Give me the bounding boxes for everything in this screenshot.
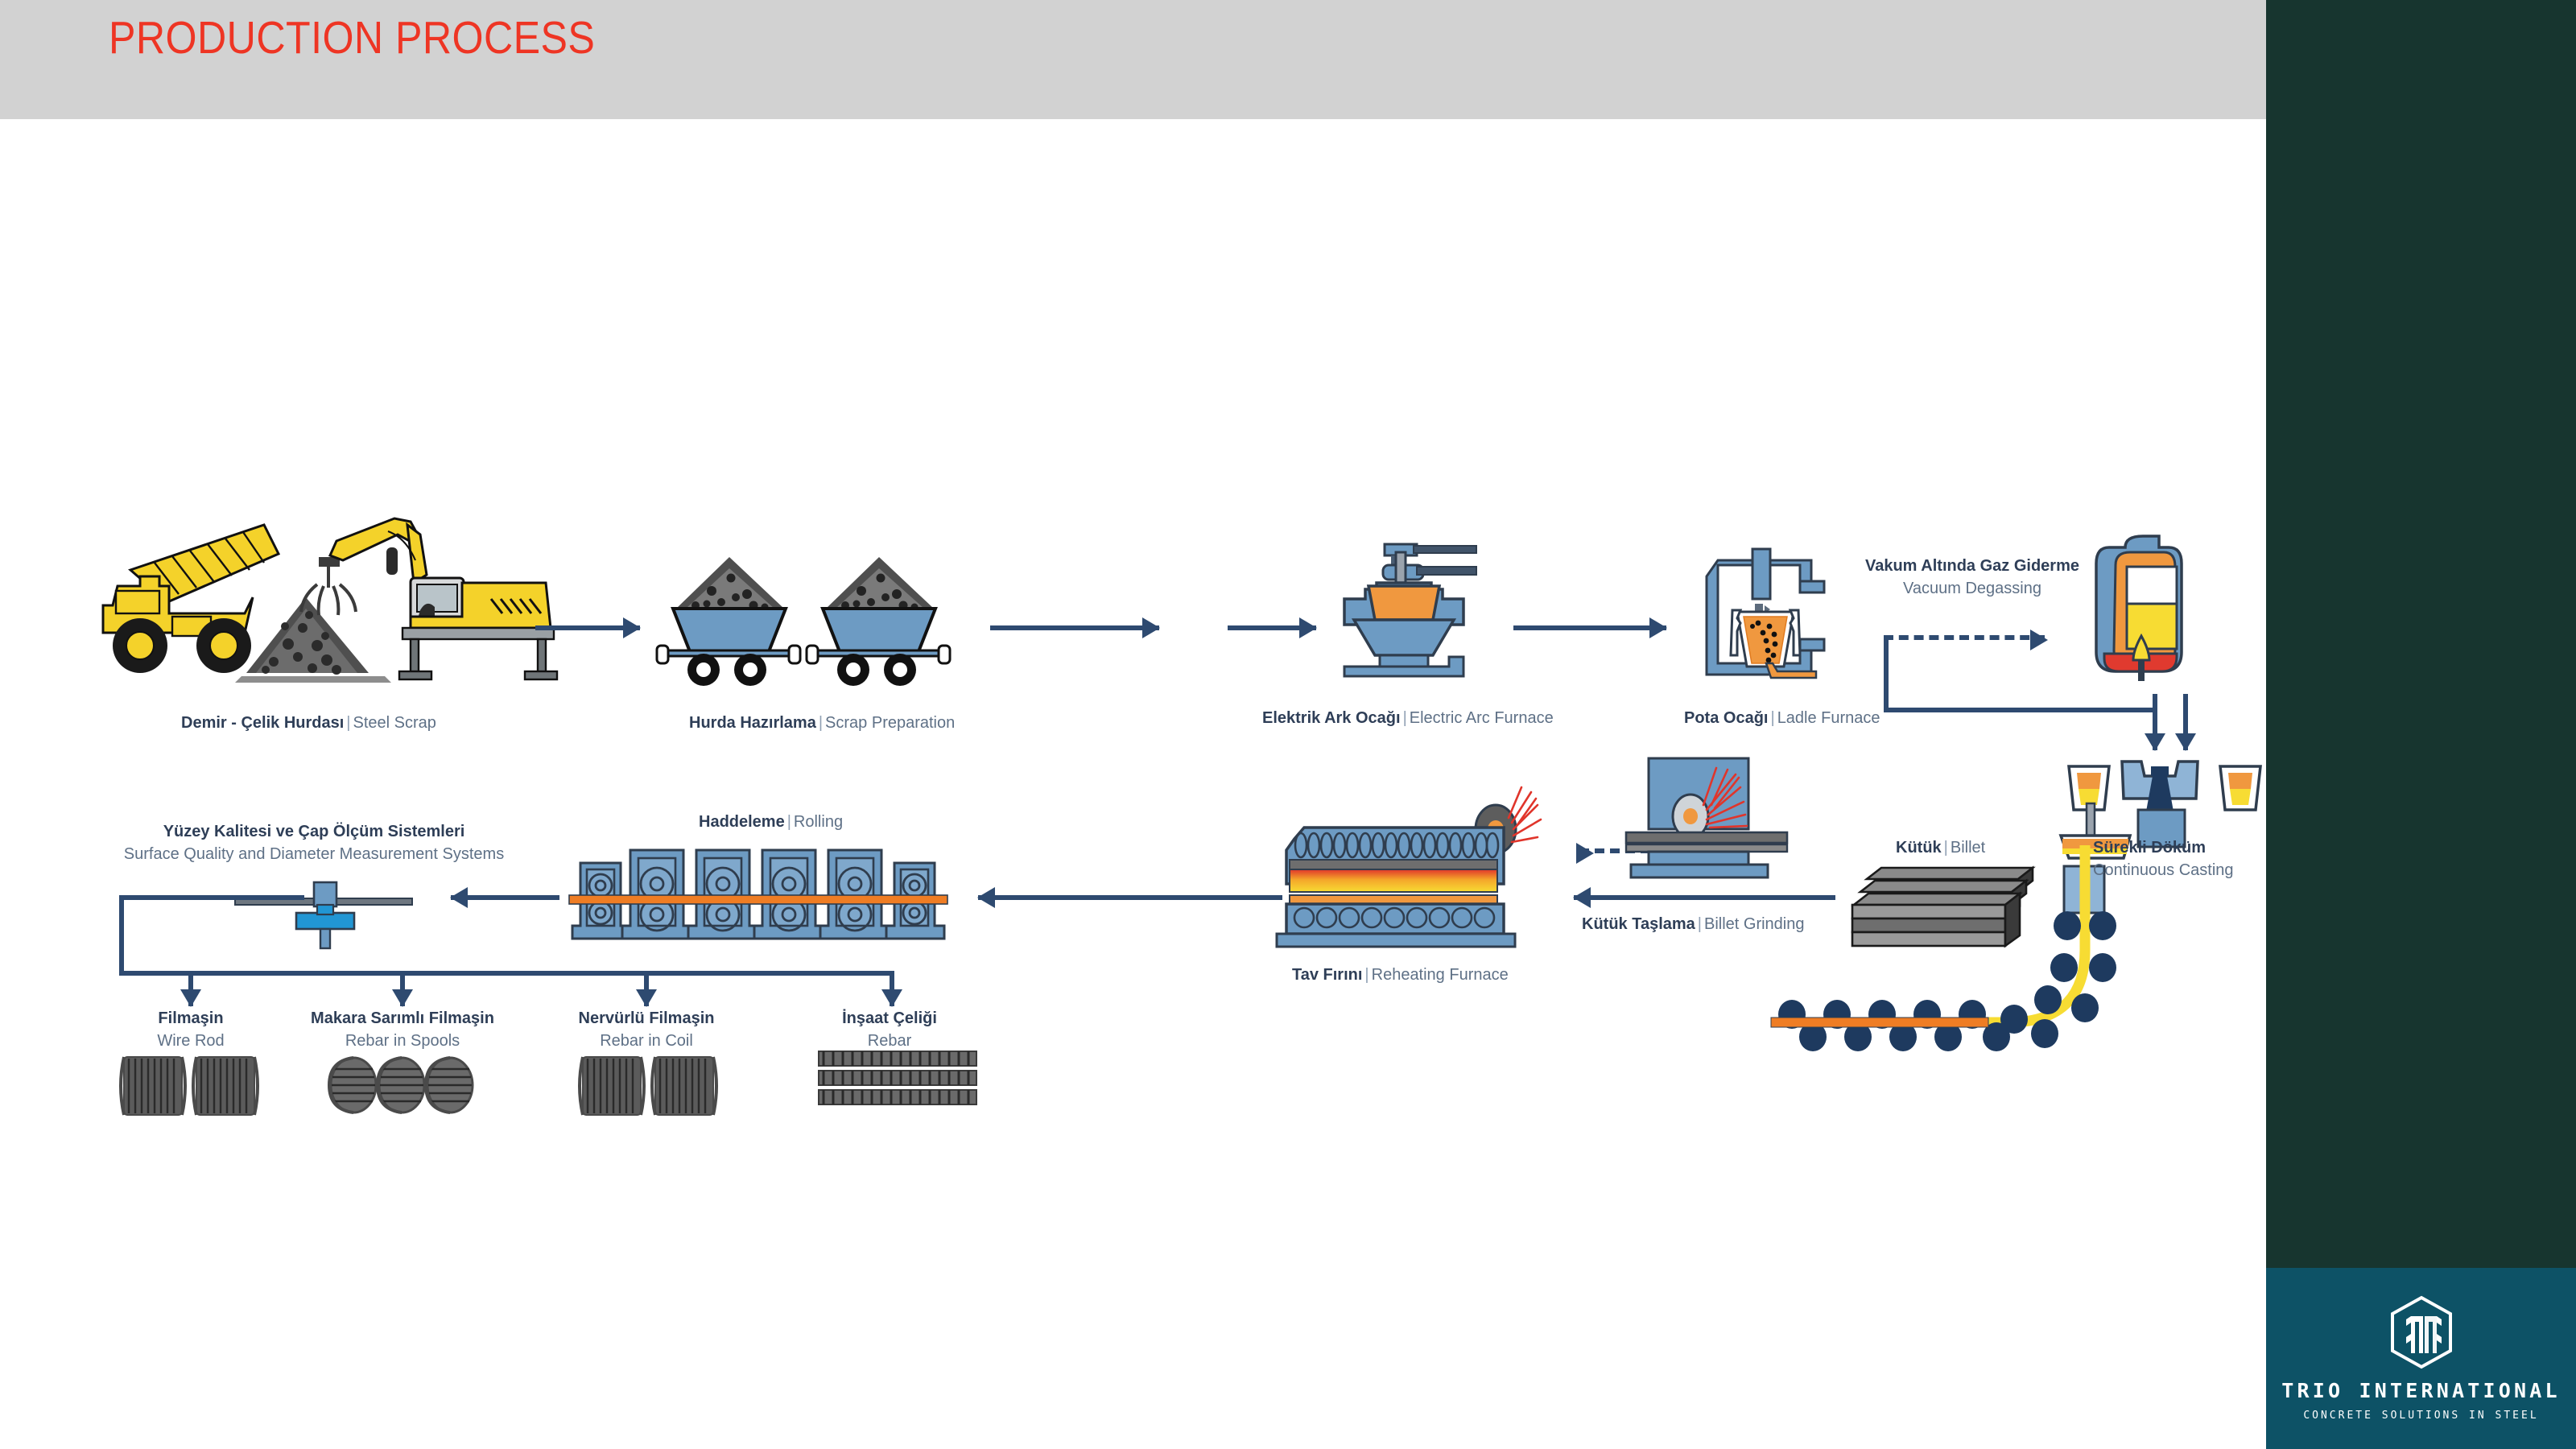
flow-arrow-down-2 bbox=[2183, 694, 2188, 750]
continuous-casting-icon bbox=[2061, 749, 2270, 1046]
caption-rolling: Haddeleme|Rolling bbox=[699, 811, 843, 833]
caption-continuous-casting: Sürekli Döküm Continuous Casting bbox=[2093, 837, 2278, 881]
flow-arrow-2 bbox=[990, 625, 1159, 630]
product-arrow-rebar-spools bbox=[400, 971, 405, 1006]
caption-vacuum-degassing: Vakum Altında Gaz Giderme Vacuum Degassi… bbox=[1860, 555, 2085, 600]
caption-product-rebar-spools: Makara Sarımlı FilmaşinRebar in Spools bbox=[298, 1008, 507, 1052]
reheating-furnace-icon bbox=[1272, 805, 1546, 952]
flow-arrow-1 bbox=[535, 625, 640, 630]
caption-ladle-furnace: Pota Ocağı|Ladle Furnace bbox=[1684, 708, 1880, 729]
caption-product-rebar: İnşaat ÇeliğiRebar bbox=[793, 1008, 986, 1052]
brand-tagline: CONCRETE SOLUTIONS IN STEEL bbox=[2303, 1410, 2538, 1422]
caption-scrap-preparation: Hurda Hazırlama|Scrap Preparation bbox=[689, 712, 955, 734]
brand-name: TRIO INTERNATIONAL bbox=[2281, 1379, 2561, 1402]
brand-logo-panel: TRIO INTERNATIONAL CONCRETE SOLUTIONS IN… bbox=[2266, 1268, 2576, 1449]
rebar-bars-icon bbox=[817, 1046, 978, 1124]
products-bus-line bbox=[119, 971, 892, 976]
slide-canvas: TRIO INTERNATIONAL CONCRETE SOLUTIONS IN… bbox=[0, 0, 2576, 1449]
caption-billet-grinding: Kütük Taşlama|Billet Grinding bbox=[1582, 914, 1805, 935]
electric-arc-furnace-icon bbox=[1327, 530, 1480, 684]
dump-truck-and-excavator-scrap-pile-icon bbox=[95, 507, 514, 684]
right-side-panel bbox=[2266, 0, 2576, 1268]
header-band: PRODUCTION PROCESS bbox=[0, 0, 2266, 119]
caption-steel-scrap: Demir - Çelik Hurdası|Steel Scrap bbox=[181, 712, 436, 734]
rolling-link-line bbox=[1131, 895, 1236, 900]
gauge-down-line bbox=[119, 895, 124, 976]
flow-arrow-down-1 bbox=[2153, 694, 2157, 750]
degassing-down-line bbox=[1884, 635, 1889, 712]
ladle-furnace-icon bbox=[1694, 546, 1827, 689]
flow-arrow-left-rolling bbox=[978, 895, 1135, 900]
rebar-coils-icon bbox=[578, 1051, 723, 1123]
product-arrow-rebar bbox=[890, 971, 894, 1006]
flow-arrow-3 bbox=[1228, 625, 1316, 630]
rolling-mill-stands-icon bbox=[576, 837, 970, 950]
hexagon-building-logo-icon bbox=[2388, 1295, 2454, 1369]
measurement-gauge-icon bbox=[235, 869, 412, 958]
caption-measurement-systems: Yüzey Kalitesi ve Çap Ölçüm Sistemleri S… bbox=[121, 821, 507, 865]
page-title: PRODUCTION PROCESS bbox=[109, 11, 595, 64]
caption-billet: Kütük|Billet bbox=[1896, 837, 1985, 859]
caption-product-wire-rod: FilmaşinWire Rod bbox=[110, 1008, 271, 1052]
two-scrap-carts-icon bbox=[658, 541, 958, 684]
caption-product-rebar-coil: Nervürlü FilmaşinRebar in Coil bbox=[550, 1008, 743, 1052]
vacuum-degassing-vessel-icon bbox=[2091, 531, 2186, 687]
caption-electric-arc-furnace: Elektrik Ark Ocağı|Electric Arc Furnace bbox=[1262, 708, 1554, 729]
caption-reheating-furnace: Tav Fırını|Reheating Furnace bbox=[1292, 964, 1509, 986]
product-arrow-rebar-coil bbox=[644, 971, 649, 1006]
wire-rod-coils-icon bbox=[119, 1051, 264, 1123]
gauge-inlet-line bbox=[119, 895, 304, 900]
degassing-cross-line bbox=[1884, 708, 2157, 712]
product-arrow-wire-rod bbox=[188, 971, 193, 1006]
flow-arrow-4 bbox=[1513, 625, 1666, 630]
flow-arrow-left-billet bbox=[1574, 895, 1835, 900]
flow-arrow-dashed-degassing bbox=[1884, 635, 2045, 640]
flow-arrow-left-measurement bbox=[451, 895, 559, 900]
billet-grinder-icon bbox=[1626, 755, 1787, 884]
rebar-spools-icon bbox=[326, 1048, 487, 1122]
billet-stack-icon bbox=[1847, 863, 2037, 960]
reheating-inlet-line bbox=[1234, 895, 1282, 900]
